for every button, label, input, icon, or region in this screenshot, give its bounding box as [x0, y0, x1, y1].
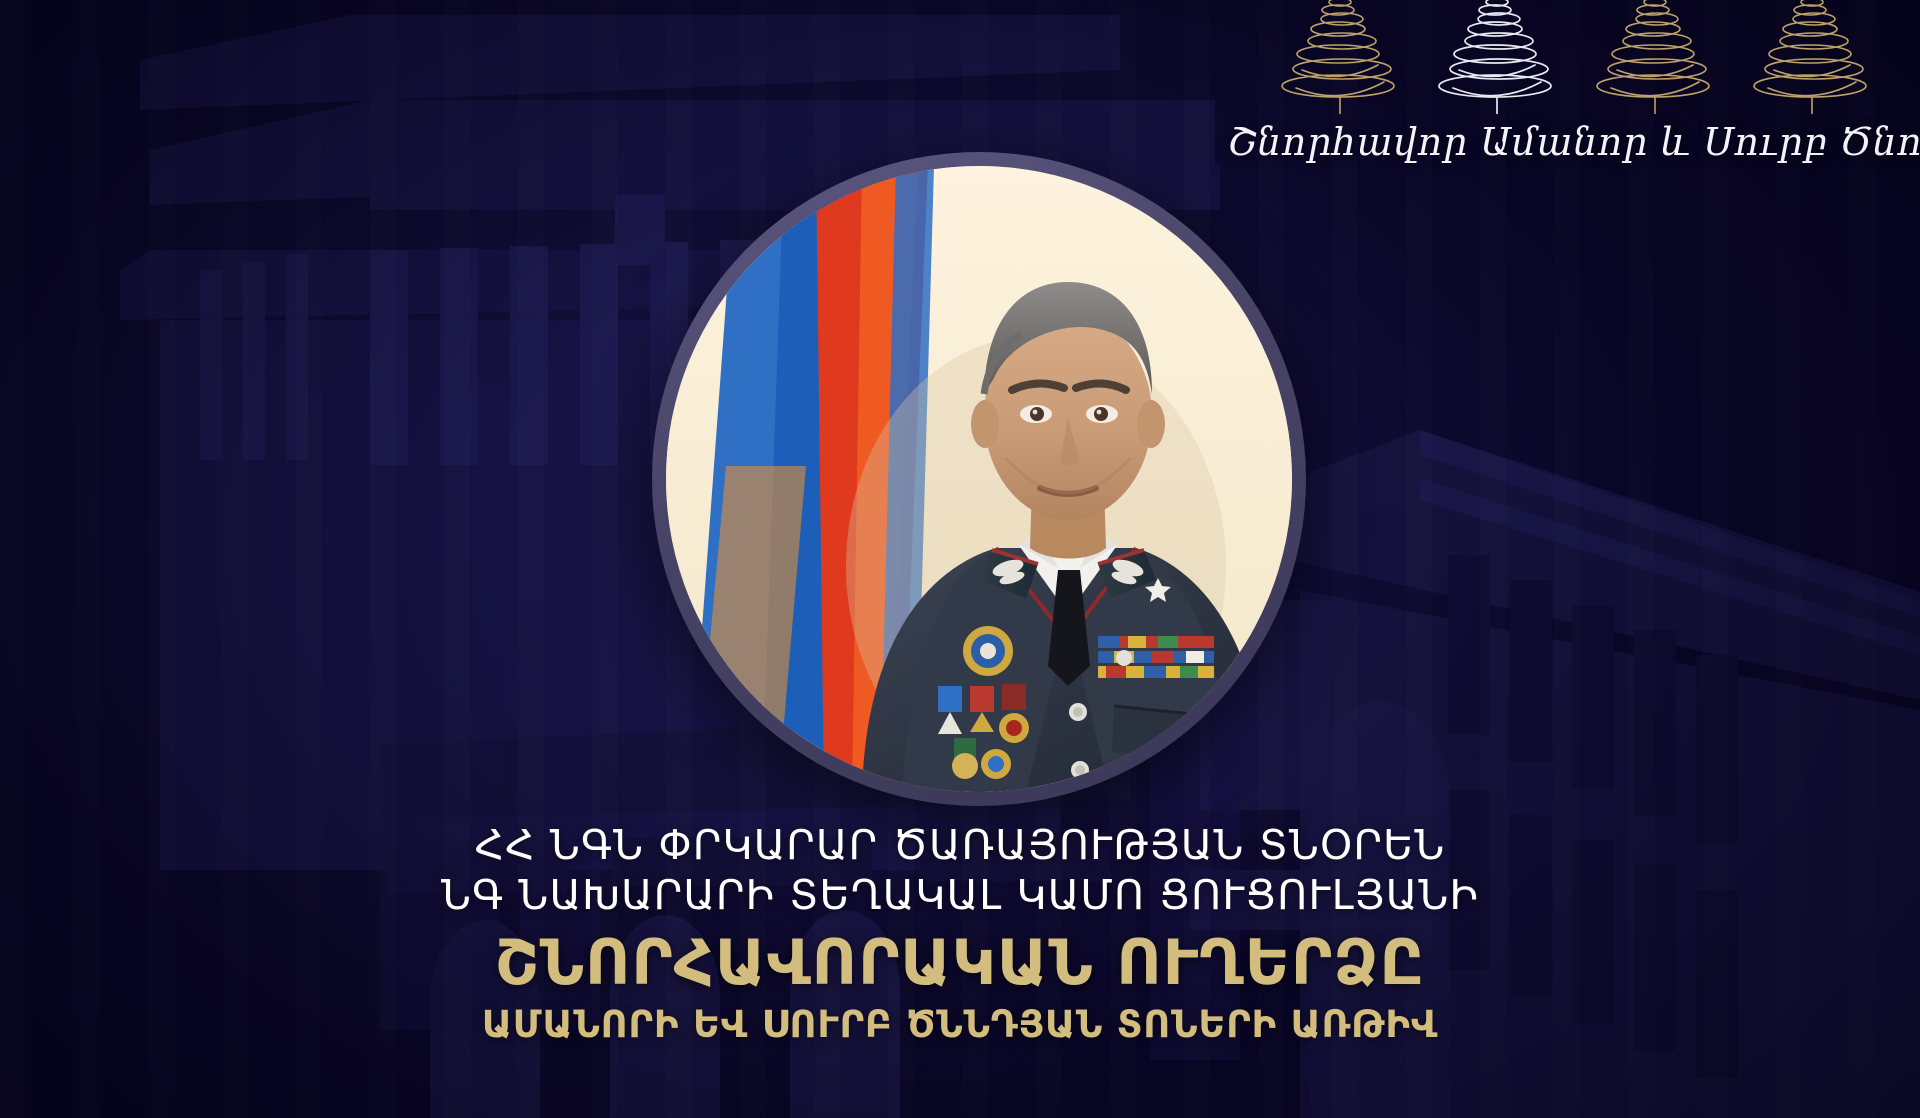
christmas-tree-spiral-1-icon [1276, 0, 1404, 114]
christmas-tree-row [1276, 0, 1876, 114]
christmas-tree-spiral-2-icon [1433, 0, 1561, 114]
christmas-tree-spiral-3-icon [1591, 0, 1719, 114]
message-line-1: ՀՀ ՆԳՆ ՓՐԿԱՐԱՐ ԾԱՌԱՅՈՒԹՅԱՆ ՏՆՕՐԵՆ [60, 820, 1860, 870]
holiday-greeting-text: Շնորհավոր Ամանոր և Սուրբ Ծնունդ [1228, 122, 1868, 164]
message-headline: ՇՆՈՐՀԱՎՈՐԱԿԱՆ ՈՒՂԵՐՁԸ [60, 926, 1860, 1000]
christmas-tree-spiral-4-icon [1748, 0, 1876, 114]
poster-canvas: Շնորհավոր Ամանոր և Սուրբ Ծնունդ [0, 0, 1920, 1118]
message-line-2: ՆԳ ՆԱԽԱՐԱՐԻ ՏԵՂԱԿԱԼ ԿԱՄՈ ՑՈՒՑՈՒԼՅԱՆԻ [60, 870, 1860, 920]
portrait-photo [666, 166, 1292, 792]
message-subline: ԱՄԱՆՈՐԻ ԵՎ ՍՈՒՐԲ ԾՆՆԴՅԱՆ ՏՈՆԵՐԻ ԱՌԹԻՎ [60, 1002, 1860, 1048]
message-block: ՀՀ ՆԳՆ ՓՐԿԱՐԱՐ ԾԱՌԱՅՈՒԹՅԱՆ ՏՆՕՐԵՆ ՆԳ ՆԱԽ… [0, 820, 1920, 1048]
portrait-avatar [652, 152, 1306, 806]
